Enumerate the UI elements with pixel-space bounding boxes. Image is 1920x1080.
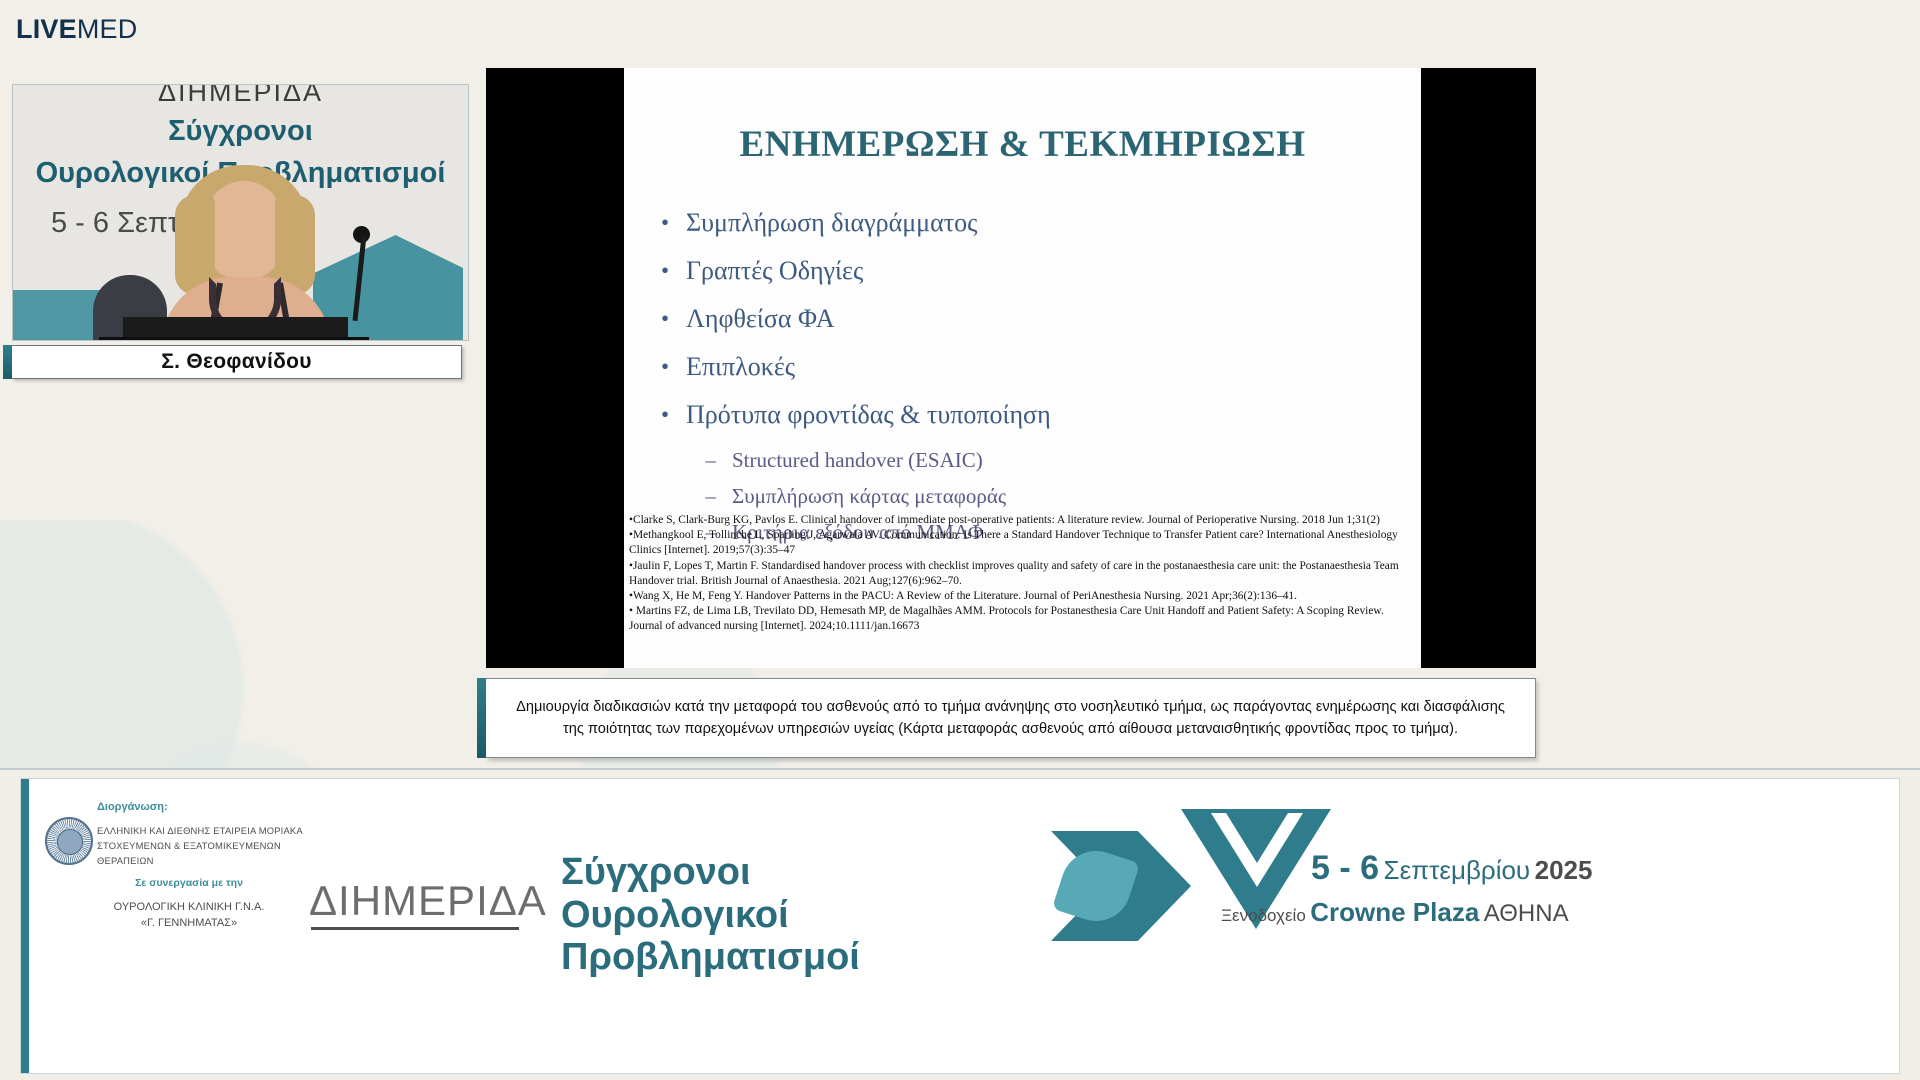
speaker-name-bar: Σ. Θεοφανίδου bbox=[12, 345, 462, 379]
cooperation-names: ΟΥΡΟΛΟΓΙΚΗ ΚΛΙΝΙΚΗ Γ.Ν.Α. «Γ. ΓΕΝΝΗΜΑΤΑΣ… bbox=[39, 899, 339, 931]
venue-name: Crowne Plaza bbox=[1310, 897, 1479, 927]
slide-caption-box: Δημιουργία διαδικασιών κατά την μεταφορά… bbox=[486, 678, 1536, 758]
sub-bullet-item: – Συμπλήρωση κάρτας μεταφοράς bbox=[644, 479, 1404, 513]
slide-references: •Clarke S, Clark-Burg KG, Pavlos E. Clin… bbox=[629, 513, 1416, 635]
cooperation-label: Σε συνεργασία με την bbox=[39, 877, 339, 889]
presentation-slide: ΕΝΗΜΕΡΩΣΗ & ΤΕΚΜΗΡΙΩΣΗ • Συμπλήρωση διαγ… bbox=[624, 68, 1421, 668]
organiser-label: Διοργάνωση: bbox=[97, 801, 339, 813]
bullet-marker-icon: • bbox=[644, 251, 686, 291]
speaker-figure bbox=[165, 165, 325, 341]
bullet-label: Ληφθείσα ΦΑ bbox=[686, 299, 835, 339]
backdrop-line-2: Σύγχρονοι bbox=[13, 115, 468, 148]
backdrop-line-1: ΔΙΗΜΕΡΙΔΑ bbox=[13, 84, 468, 108]
slide-title: ΕΝΗΜΕΡΩΣΗ & ΤΕΚΜΗΡΙΩΣΗ bbox=[624, 123, 1421, 166]
event-date-year: 2025 bbox=[1535, 855, 1593, 885]
bullet-item: • Συμπλήρωση διαγράμματος bbox=[644, 203, 1404, 243]
bullet-marker-icon: • bbox=[644, 395, 686, 435]
event-title: Σύγχρονοι Ουρολογικοί Προβληματισμοί bbox=[561, 851, 1081, 979]
slide-stage[interactable]: ΕΝΗΜΕΡΩΣΗ & ΤΕΚΜΗΡΙΩΣΗ • Συμπλήρωση διαγ… bbox=[486, 68, 1536, 668]
bullet-item: • Επιπλοκές bbox=[644, 347, 1404, 387]
page-header: LIVEMED bbox=[0, 0, 1920, 68]
reference-item: •Wang X, He M, Feng Y. Handover Patterns… bbox=[629, 589, 1416, 604]
bullet-label: Γραπτές Οδηγίες bbox=[686, 251, 863, 291]
slide-bullet-list: • Συμπλήρωση διαγράμματος • Γραπτές Οδηγ… bbox=[644, 203, 1404, 551]
livestream-page: LIVEMED ΔΙΗΜΕΡΙΔΑ Σύγχρονοι Ουρολογικοί … bbox=[0, 0, 1920, 1080]
bullet-item: • Ληφθείσα ΦΑ bbox=[644, 299, 1404, 339]
cooperation-line-1: ΟΥΡΟΛΟΓΙΚΗ ΚΛΙΝΙΚΗ Γ.Ν.Α. bbox=[39, 899, 339, 915]
bullet-label: Συμπλήρωση διαγράμματος bbox=[686, 203, 977, 243]
podium-base-shape bbox=[99, 337, 369, 341]
speaker-panel[interactable]: ΔΙΗΜΕΡΙΔΑ Σύγχρονοι Ουρολογικοί Προβλημα… bbox=[12, 84, 469, 379]
reference-item: •Clarke S, Clark-Burg KG, Pavlos E. Clin… bbox=[629, 513, 1416, 528]
reference-item: •Jaulin F, Lopes T, Martin F. Standardis… bbox=[629, 559, 1416, 589]
bullet-marker-icon: • bbox=[644, 203, 686, 243]
bullet-marker-icon: • bbox=[644, 347, 686, 387]
event-date-month: Σεπτεμβρίου bbox=[1384, 855, 1531, 885]
sub-bullet-marker-icon: – bbox=[644, 443, 732, 477]
organiser-line-2: ΣΤΟΧΕΥΜΕΝΩΝ & ΕΞΑΤΟΜΙΚΕΥΜΕΝΩΝ ΘΕΡΑΠΕΙΩΝ bbox=[97, 838, 339, 868]
logo-live-text: LIVE bbox=[16, 14, 77, 44]
reference-item: • Martins FZ, de Lima LB, Trevilato DD, … bbox=[629, 604, 1416, 634]
logo-med-text: MED bbox=[77, 14, 138, 44]
organiser-line-1: ΕΛΛΗΝΙΚΗ ΚΑΙ ΔΙΕΘΝΗΣ ΕΤΑΙΡΕΙΑ ΜΟΡΙΑΚΑ bbox=[97, 823, 339, 838]
event-venue: Ξενοδοχείο Crowne Plaza ΑΘΗΝΑ bbox=[1221, 897, 1569, 928]
bullet-label: Πρότυπα φροντίδας & τυποποίηση bbox=[686, 395, 1051, 435]
event-footer-banner: Διοργάνωση: ΕΛΛΗΝΙΚΗ ΚΑΙ ΔΙΕΘΝΗΣ ΕΤΑΙΡΕΙ… bbox=[0, 768, 1920, 1080]
speaker-name: Σ. Θεοφανίδου bbox=[161, 350, 312, 374]
venue-label: Ξενοδοχείο bbox=[1221, 906, 1306, 925]
sub-bullet-label: Συμπλήρωση κάρτας μεταφοράς bbox=[732, 479, 1006, 513]
livemed-logo[interactable]: LIVEMED bbox=[16, 16, 137, 43]
sub-bullet-marker-icon: – bbox=[644, 479, 732, 513]
cooperation-line-2: «Γ. ΓΕΝΝΗΜΑΤΑΣ» bbox=[39, 915, 339, 931]
event-word: ΔΙΗΜΕΡΙΔΑ bbox=[309, 877, 547, 925]
event-title-line-1: Σύγχρονοι bbox=[561, 851, 1081, 894]
venue-city: ΑΘΗΝΑ bbox=[1484, 900, 1569, 927]
speaker-face bbox=[205, 181, 283, 279]
event-word-underline bbox=[311, 927, 519, 930]
society-seal-icon bbox=[45, 817, 93, 865]
bullet-item: • Πρότυπα φροντίδας & τυποποίηση bbox=[644, 395, 1404, 435]
event-date-days: 5 - 6 bbox=[1311, 849, 1379, 887]
speaker-video[interactable]: ΔΙΗΜΕΡΙΔΑ Σύγχρονοι Ουρολογικοί Προβλημα… bbox=[12, 84, 469, 341]
organiser-names: ΕΛΛΗΝΙΚΗ ΚΑΙ ΔΙΕΘΝΗΣ ΕΤΑΙΡΕΙΑ ΜΟΡΙΑΚΑ ΣΤ… bbox=[97, 823, 339, 868]
slide-caption-text: Δημιουργία διαδικασιών κατά την μεταφορά… bbox=[506, 696, 1516, 740]
event-date: 5 - 6 Σεπτεμβρίου 2025 bbox=[1311, 849, 1592, 888]
organiser-block: Διοργάνωση: ΕΛΛΗΝΙΚΗ ΚΑΙ ΔΙΕΘΝΗΣ ΕΤΑΙΡΕΙ… bbox=[39, 801, 339, 813]
footer-inner: Διοργάνωση: ΕΛΛΗΝΙΚΗ ΚΑΙ ΔΙΕΘΝΗΣ ΕΤΑΙΡΕΙ… bbox=[20, 778, 1900, 1074]
sub-bullet-label: Structured handover (ESAIC) bbox=[732, 443, 983, 477]
event-title-line-2: Ουρολογικοί Προβληματισμοί bbox=[561, 894, 1081, 979]
bullet-marker-icon: • bbox=[644, 299, 686, 339]
bullet-label: Επιπλοκές bbox=[686, 347, 795, 387]
sub-bullet-item: – Structured handover (ESAIC) bbox=[644, 443, 1404, 477]
reference-item: •Methangkool E, Tollinche L, Sparling J,… bbox=[629, 528, 1416, 558]
bullet-item: • Γραπτές Οδηγίες bbox=[644, 251, 1404, 291]
